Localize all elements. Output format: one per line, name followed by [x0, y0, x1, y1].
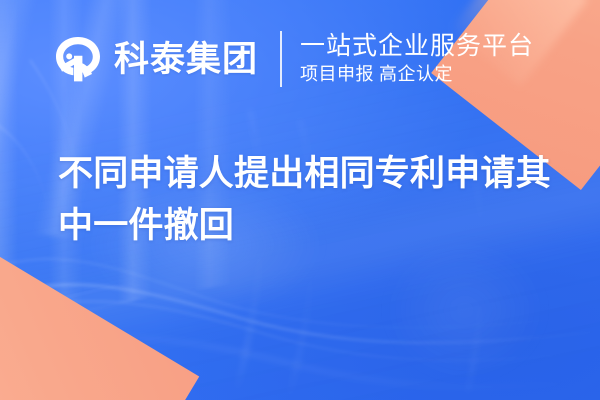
- page-title: 不同申请人提出相同专利申请其中一件撤回: [58, 148, 556, 252]
- tagline-block: 一站式企业服务平台 项目申报 高企认定: [300, 32, 534, 86]
- header-divider: [280, 31, 282, 87]
- tagline-primary: 一站式企业服务平台: [300, 32, 534, 60]
- tagline-secondary: 项目申报 高企认定: [300, 63, 534, 86]
- promo-banner: 科泰集团 一站式企业服务平台 项目申报 高企认定 不同申请人提出相同专利申请其中…: [0, 0, 600, 400]
- ketai-logo-icon: [52, 33, 104, 85]
- brand-name: 科泰集团: [114, 42, 258, 77]
- brand-header: 科泰集团 一站式企业服务平台 项目申报 高企认定: [52, 28, 534, 90]
